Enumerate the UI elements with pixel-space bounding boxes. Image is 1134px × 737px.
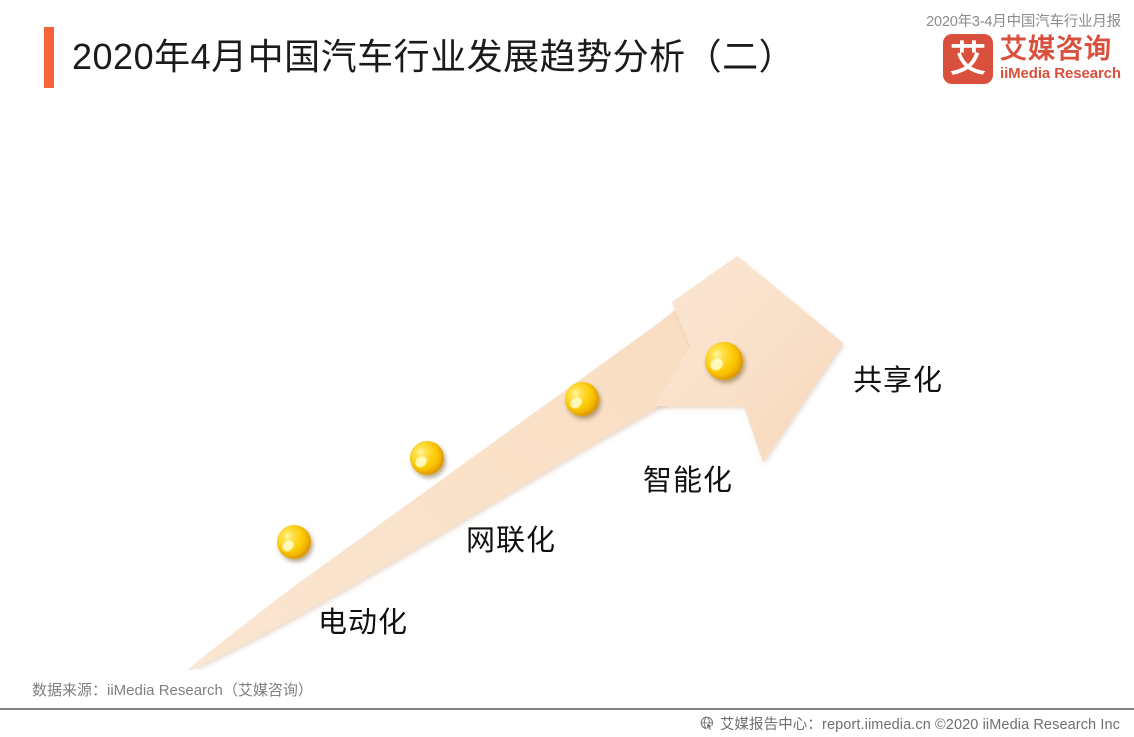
- page-title: 2020年4月中国汽车行业发展趋势分析（二）: [72, 28, 795, 86]
- node-dot-4: [705, 342, 743, 380]
- node-label-2: 网联化: [466, 524, 556, 558]
- node-label-1: 电动化: [318, 606, 408, 640]
- arrow-point: [654, 256, 843, 462]
- node-dot-1: [277, 525, 311, 559]
- globe-cursor-icon: [700, 716, 715, 731]
- node-dot-2: [410, 441, 444, 475]
- slide-header: 2020年4月中国汽车行业发展趋势分析（二） 2020年3-4月中国汽车行业月报…: [0, 0, 1134, 110]
- report-kicker: 2020年3-4月中国汽车行业月报: [926, 10, 1121, 31]
- trend-arrow-figure: 电动化 网联化 智能化 共享化: [0, 110, 1134, 670]
- iimedia-logo-icon: 艾: [943, 34, 993, 84]
- data-source-note: 数据来源：iiMedia Research（艾媒咨询）: [32, 679, 313, 700]
- node-label-3: 智能化: [643, 464, 733, 498]
- slide-footer: 艾媒报告中心：report.iimedia.cn ©2020 iiMedia R…: [0, 710, 1134, 737]
- brand-name-en: iiMedia Research: [1000, 64, 1121, 83]
- brand-logo: 艾 艾媒咨询 iiMedia Research: [943, 33, 1121, 85]
- brand-logo-text: 艾媒咨询 iiMedia Research: [1000, 34, 1121, 84]
- node-dot-3: [565, 382, 599, 416]
- footer-text: 艾媒报告中心：report.iimedia.cn ©2020 iiMedia R…: [720, 713, 1120, 734]
- brand-name-cn: 艾媒咨询: [1000, 35, 1121, 64]
- node-label-4: 共享化: [853, 364, 943, 398]
- title-accent-bar: [44, 27, 54, 88]
